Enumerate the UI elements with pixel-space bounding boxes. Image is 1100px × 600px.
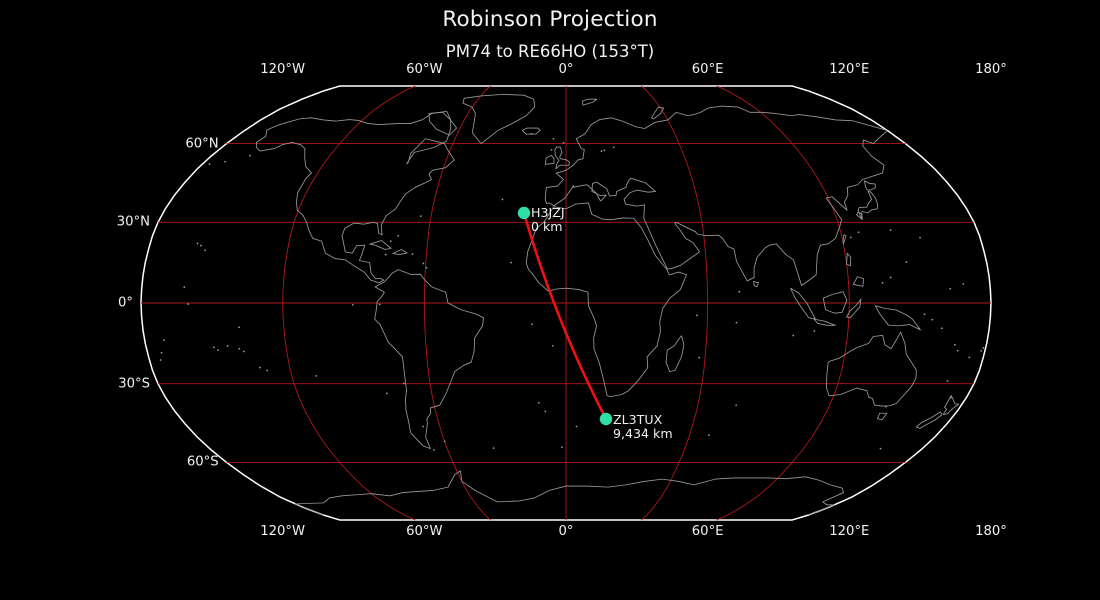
lat-tick-30s: 30°S bbox=[118, 376, 150, 391]
marker-label-0-callsign: H3JZJ bbox=[531, 206, 565, 220]
world-map bbox=[0, 0, 1100, 600]
lon-tick-top-2: 120°E bbox=[829, 62, 869, 77]
marker-dot-0[interactable] bbox=[518, 207, 530, 219]
lon-tick-bottom-4: 120°W bbox=[260, 524, 305, 539]
marker-label-0-distance: 0 km bbox=[531, 220, 563, 234]
lon-tick-bottom-3: 180° bbox=[975, 524, 1007, 539]
figure-canvas: Robinson Projection PM74 to RE66HO (153°… bbox=[0, 0, 1100, 600]
lon-tick-top-3: 180° bbox=[975, 62, 1007, 77]
lon-tick-top-5: 60°W bbox=[406, 62, 442, 77]
lon-tick-bottom-1: 60°E bbox=[692, 524, 724, 539]
lon-tick-top-1: 60°E bbox=[692, 62, 724, 77]
marker-label-1-distance: 9,434 km bbox=[613, 427, 673, 441]
lon-tick-bottom-2: 120°E bbox=[829, 524, 869, 539]
lon-tick-top-4: 120°W bbox=[260, 62, 305, 77]
lat-tick-0: 0° bbox=[118, 296, 133, 311]
marker-dot-1[interactable] bbox=[600, 413, 612, 425]
lon-tick-bottom-0: 0° bbox=[559, 524, 574, 539]
lon-tick-top-0: 0° bbox=[559, 62, 574, 77]
lat-tick-60n: 60°N bbox=[185, 136, 218, 151]
marker-label-1-callsign: ZL3TUX bbox=[613, 413, 662, 427]
lon-tick-bottom-5: 60°W bbox=[406, 524, 442, 539]
lat-tick-30n: 30°N bbox=[117, 215, 150, 230]
lat-tick-60s: 60°S bbox=[187, 455, 219, 470]
